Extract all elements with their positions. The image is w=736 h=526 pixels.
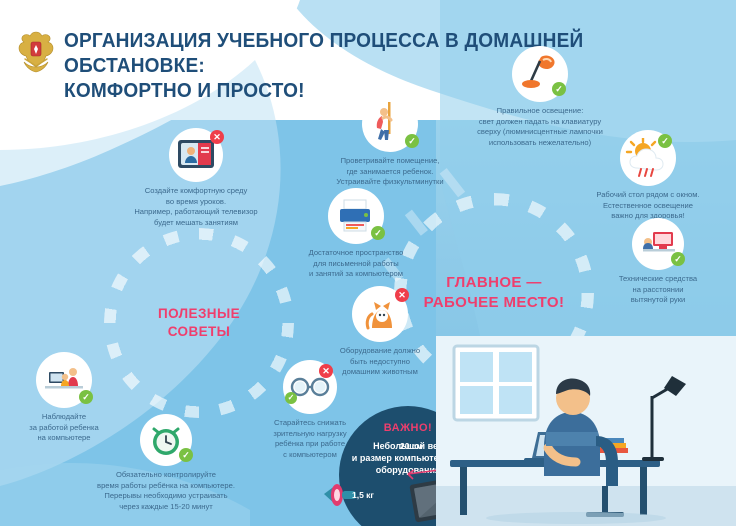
tip-text: Рабочий стол рядом с окном. Естественное… xyxy=(560,190,736,222)
check-badge-icon: ✓ xyxy=(658,134,672,148)
stretching-person-icon: ✓ xyxy=(362,96,418,152)
weight-label: 1,5 кг xyxy=(352,490,374,500)
check-badge-icon: ✓ xyxy=(371,226,385,240)
monitor-desk-icon: ✓ xyxy=(632,218,684,270)
tip-tv-distraction: ✕ Создайте комфортную среду во время уро… xyxy=(96,128,296,228)
parent-child-computer-icon: ✓ xyxy=(36,352,92,408)
desk-lamp-icon: ✓ xyxy=(512,46,568,102)
tip-text: Создайте комфортную среду во время уроко… xyxy=(96,186,296,228)
tip-text: Достаточное пространство для письменной … xyxy=(272,248,440,280)
printer-desk-icon: ✓ xyxy=(328,188,384,244)
cross-badge-icon: ✕ xyxy=(319,364,333,378)
check-badge-icon: ✓ xyxy=(179,448,193,462)
cat-icon: ✕ xyxy=(352,286,408,342)
check-badge-icon: ✓ xyxy=(79,390,93,404)
cross-badge-icon: ✕ xyxy=(210,130,224,144)
hub-tips-line-1: ПОЛЕЗНЫЕ xyxy=(158,305,240,323)
tablet-video-call-icon: ✕ xyxy=(169,128,223,182)
tip-text: Обязательно контролируйте время работы р… xyxy=(68,470,264,512)
hub-tips-line-2: СОВЕТЫ xyxy=(168,323,231,341)
sun-cloud-icon: ✓ xyxy=(620,130,676,186)
check-badge-icon: ✓ xyxy=(552,82,566,96)
check-badge-icon: ✓ xyxy=(405,134,419,148)
alarm-clock-icon: ✓ xyxy=(140,414,192,466)
check-badge-icon: ✓ xyxy=(671,252,685,266)
tip-enough-space: ✓ Достаточное пространство для письменно… xyxy=(272,188,440,280)
tip-text: Технические средства на расстоянии вытян… xyxy=(580,274,736,306)
size-label: 20 см xyxy=(400,441,423,451)
glasses-icon: ✕ ✓ xyxy=(283,360,337,414)
cross-badge-icon: ✕ xyxy=(395,288,409,302)
tip-arms-length-equipment: ✓ Технические средства на расстоянии выт… xyxy=(580,218,736,306)
tip-desk-near-window: ✓ Рабочий стол рядом с окном. Естественн… xyxy=(560,130,736,222)
russian-coat-of-arms-emblem xyxy=(16,28,56,76)
tip-text: Проветривайте помещение, где занимается … xyxy=(300,156,480,188)
boy-studying-at-desk-illustration xyxy=(436,336,736,526)
check-badge-icon: ✓ xyxy=(285,392,297,404)
infographic-poster: ОРГАНИЗАЦИЯ УЧЕБНОГО ПРОЦЕССА В ДОМАШНЕЙ… xyxy=(0,0,736,526)
